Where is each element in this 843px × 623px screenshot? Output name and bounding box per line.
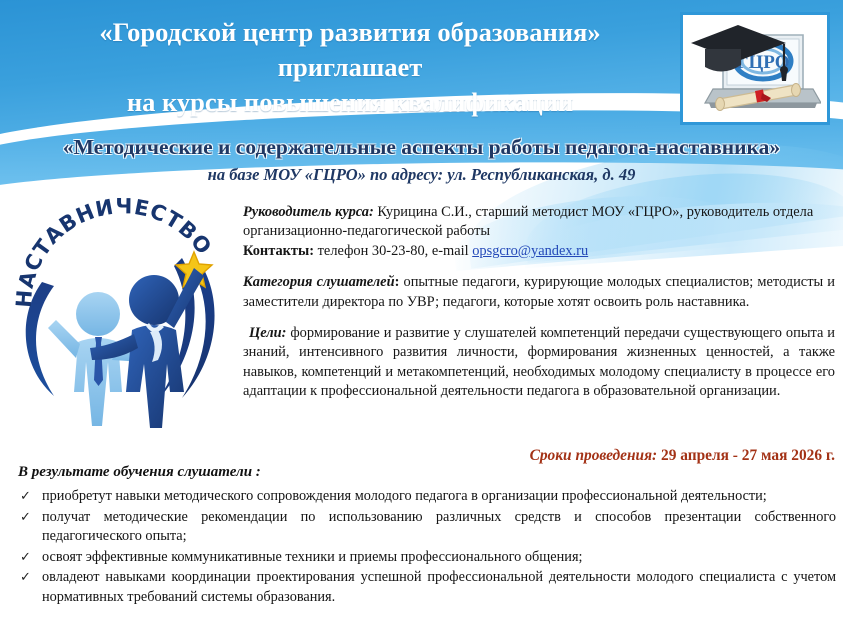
list-item-text: приобретут навыки методического сопровож… <box>42 488 767 504</box>
course-info-column: Руководитель курса: Курицина С.И., старш… <box>243 203 835 414</box>
course-leader-paragraph: Руководитель курса: Курицина С.И., старш… <box>243 203 835 261</box>
header-title-line-2: приглашает <box>40 50 660 85</box>
list-item: ✓ освоят эффективные коммуникативные тех… <box>14 548 836 568</box>
list-item-text: овладеют навыками координации проектиров… <box>42 569 836 605</box>
results-section: В результате обучения слушатели : ✓ прио… <box>14 464 836 609</box>
check-mark-icon: ✓ <box>20 548 31 568</box>
list-item: ✓ получат методические рекомендации по и… <box>14 508 836 547</box>
email-link[interactable]: opsgcro@yandex.ru <box>472 243 588 259</box>
course-venue: на базе МОУ «ГЦРО» по адресу: ул. Респуб… <box>0 164 843 186</box>
check-mark-icon: ✓ <box>20 508 31 528</box>
goals-paragraph: Цели: формирование и развитие у слушател… <box>243 324 835 402</box>
goals-label: Цели: <box>249 325 286 341</box>
check-mark-icon: ✓ <box>20 568 31 588</box>
dates-value: 29 апреля - 27 мая 2026 г. <box>657 447 835 464</box>
graduation-cap-laptop-diploma-icon: ГЦРО <box>683 15 821 116</box>
mentorship-two-figures-star-icon: НАСТАВНИЧЕСТВО <box>6 196 238 428</box>
mentorship-illustration: НАСТАВНИЧЕСТВО <box>6 196 238 428</box>
list-item-text: получат методические рекомендации по исп… <box>42 509 836 545</box>
course-title: «Методические и содержательные аспекты р… <box>0 134 843 160</box>
header-title-line-3: на курсы повышения квалификации <box>40 85 660 120</box>
header-invitation-title: «Городской центр развития образования» п… <box>40 15 660 120</box>
contacts-label: Контакты: <box>243 243 314 259</box>
gcro-logo-box: ГЦРО <box>680 12 830 125</box>
category-label: Категория слушателей <box>243 274 395 290</box>
check-mark-icon: ✓ <box>20 487 31 507</box>
header-title-line-1: «Городской центр развития образования» <box>40 15 660 50</box>
list-item: ✓ приобретут навыки методического сопров… <box>14 487 836 507</box>
dates-label: Сроки проведения: <box>530 447 658 464</box>
contacts-value: телефон 30-23-80, e-mail <box>314 243 472 259</box>
category-paragraph: Категория слушателей: опытные педагоги, … <box>243 273 835 312</box>
results-list: ✓ приобретут навыки методического сопров… <box>14 487 836 608</box>
list-item: ✓ овладеют навыками координации проектир… <box>14 568 836 607</box>
list-item-text: освоят эффективные коммуникативные техни… <box>42 549 583 565</box>
goals-value: формирование и развитие у слушателей ком… <box>243 325 835 399</box>
poster-root: «Городской центр развития образования» п… <box>0 0 843 623</box>
course-dates: Сроки проведения: 29 апреля - 27 мая 202… <box>135 447 835 465</box>
results-title: В результате обучения слушатели : <box>18 464 836 481</box>
leader-label: Руководитель курса: <box>243 204 374 220</box>
